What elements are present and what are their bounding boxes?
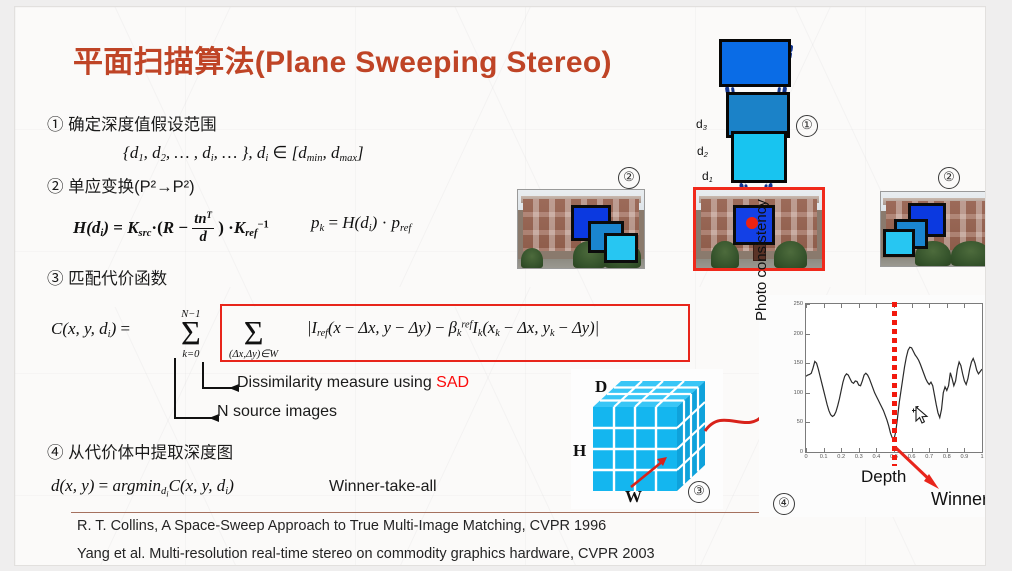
- chart-x-tick: 1: [980, 454, 983, 460]
- right-photo-plane-1: [883, 229, 915, 257]
- annotation-dissimilarity-prefix: Dissimilarity measure using: [237, 374, 436, 391]
- chart-x-tick: 0.1: [820, 454, 828, 460]
- formula-homography: H(di) = Ksrc·(R − tnTd ) ·Kref−1: [73, 211, 269, 247]
- formula-cost-lhs: C(x, y, di) =: [51, 319, 130, 340]
- step-4-marker: ④: [47, 444, 64, 462]
- chart-y-tick: 200: [794, 331, 803, 337]
- depth-plane-1: [731, 131, 787, 183]
- chart-plot-area: 050100150200250 00.10.20.30.40.50.60.70.…: [805, 303, 983, 453]
- reference-2: Yang et al. Multi-resolution real-time s…: [77, 546, 655, 562]
- chart-x-tick: 0.3: [855, 454, 863, 460]
- chart-x-tickmark-top: [982, 304, 983, 308]
- depth-label-d2: d2: [697, 144, 708, 159]
- formula-cost-sum-outer: N−1 Σ k=0: [181, 307, 201, 358]
- winner-indicator-line: [892, 302, 897, 466]
- figure-marker-4: ④: [773, 493, 795, 515]
- figure-marker-2-left: ②: [618, 167, 640, 189]
- chart-y-tick: 0: [800, 449, 803, 455]
- step-1-label: 确定深度值假设范围: [68, 116, 217, 134]
- chart-x-tick: 0.4: [873, 454, 881, 460]
- formula-depth-set: {d1, d2, … , di, … }, di ∈ [dmin, dmax]: [123, 143, 364, 164]
- chart-y-tick: 100: [794, 390, 803, 396]
- annotation-sad-metric: SAD: [436, 374, 469, 391]
- slide-canvas: 平面扫描算法(Plane Sweeping Stereo) ① 确定深度值假设范…: [14, 6, 986, 566]
- depth-label-d1: d1: [702, 169, 713, 184]
- cube-label-W: W: [625, 487, 642, 507]
- mouse-cursor-icon: [912, 406, 932, 428]
- cost-volume-figure: D H W ③: [571, 369, 723, 509]
- step-4-label: 从代价体中提取深度图: [68, 444, 233, 462]
- chart-x-tick: 0: [804, 454, 807, 460]
- figure-marker-3: ③: [688, 481, 710, 503]
- annotation-dissimilarity: Dissimilarity measure using SAD: [237, 374, 469, 392]
- left-photo-plane-1: [604, 233, 638, 263]
- formula-cost-body: |Iref(x − Δx, y − Δy) − βkrefIk(xk − Δx,…: [307, 318, 599, 339]
- step-3-label: 匹配代价函数: [68, 270, 167, 288]
- depth-plane-3: [719, 39, 791, 87]
- annotation-winner-take-all: Winner-take-all: [329, 478, 437, 496]
- chart-y-tick: 250: [794, 301, 803, 307]
- chart-x-tick: 0.2: [837, 454, 845, 460]
- depth-label-d3: d3: [696, 117, 707, 132]
- cube-label-H: H: [573, 441, 586, 461]
- step-2: ② 单应变换(P²→P²): [47, 173, 195, 197]
- step-2-marker: ②: [47, 178, 64, 196]
- step-2-label: 单应变换(P²→P²): [68, 178, 195, 196]
- reference-1: R. T. Collins, A Space-Sweep Approach to…: [77, 518, 606, 534]
- step-1-marker: ①: [47, 116, 64, 134]
- chart-y-tick: 50: [797, 419, 803, 425]
- page-title: 平面扫描算法(Plane Sweeping Stereo): [73, 37, 612, 81]
- formula-cost-sum-inner: Σ (Δx,Δy)∈W: [229, 307, 278, 358]
- figure-marker-1: ①: [796, 115, 818, 137]
- step-1: ① 确定深度值假设范围: [47, 111, 217, 135]
- cube-label-D: D: [595, 377, 607, 397]
- step-4: ④ 从代价体中提取深度图: [47, 439, 233, 463]
- chart-y-tickmark: [806, 452, 810, 453]
- winner-label: Winner: [931, 489, 986, 510]
- chart-x-tickmark: [982, 448, 983, 452]
- step-3: ③ 匹配代价函数: [47, 265, 167, 289]
- chart-x-tick: 0.9: [961, 454, 969, 460]
- formula-argmin: d(x, y) = argmindiC(x, y, di): [51, 476, 234, 498]
- figure-marker-2-right: ②: [938, 167, 960, 189]
- annotation-n-source-images: N source images: [217, 403, 337, 421]
- formula-point-map: pk = H(di) · pref: [311, 213, 411, 234]
- photo-consistency-chart: Photo consistency 050100150200250 00.10.…: [759, 295, 986, 517]
- step-3-marker: ③: [47, 270, 64, 288]
- chart-y-tick: 150: [794, 360, 803, 366]
- chart-y-axis-label: Photo consistency: [753, 199, 770, 321]
- winner-arrow: [891, 443, 961, 495]
